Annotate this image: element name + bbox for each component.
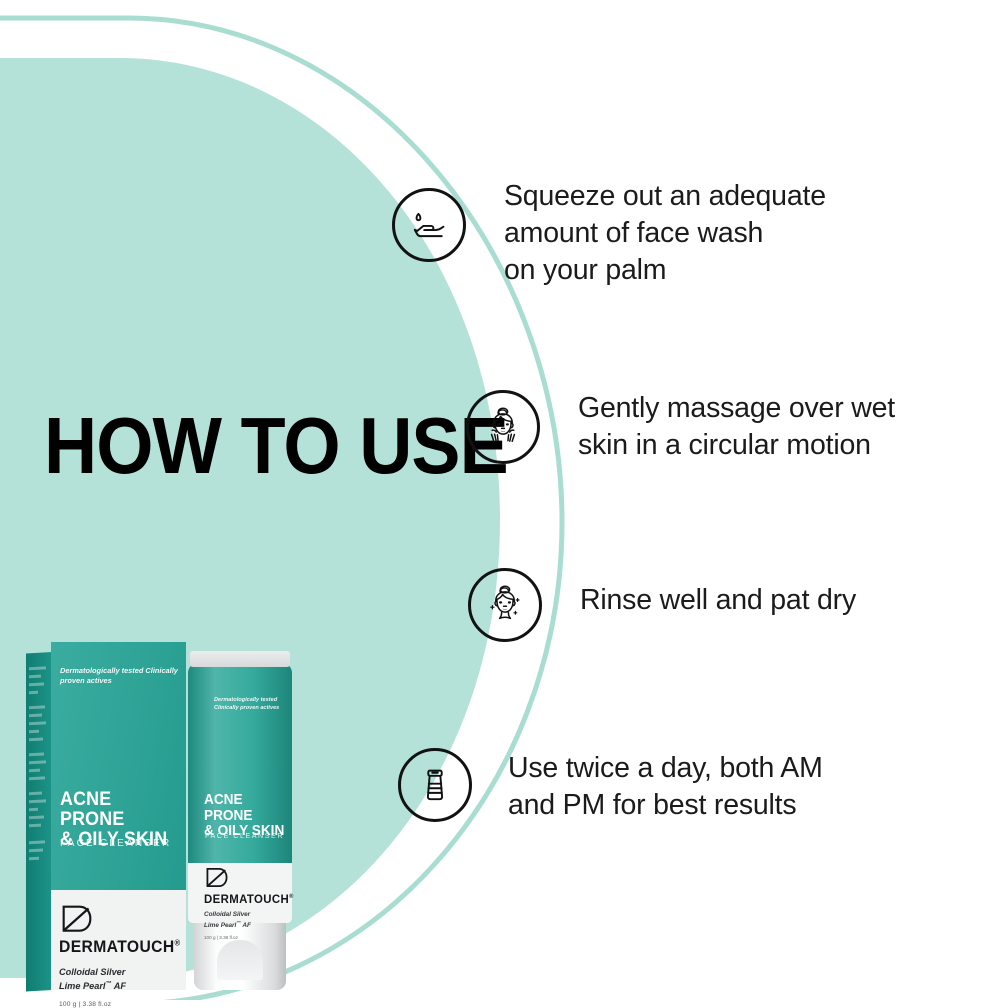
product-carton: Dermatologically tested Clinically prove… — [26, 642, 186, 990]
carton-spine-text-lines — [29, 666, 49, 865]
step-4-text: Use twice a day, both AM and PM for best… — [508, 750, 898, 824]
step-1-text: Squeeze out an adequate amount of face w… — [504, 178, 874, 289]
carton-spine — [26, 652, 52, 991]
carton-size: 100 g | 3.38 fl.oz — [59, 1001, 189, 1008]
tube-brand-block: DERMATOUCH® Colloidal Silver Lime Pearl™… — [204, 867, 290, 940]
carton-variant: Colloidal Silver Lime Pearl™ AF — [59, 967, 189, 992]
carton-brand-name: DERMATOUCH® — [59, 938, 183, 957]
tube-crimp — [190, 651, 290, 667]
face-massage-icon — [466, 390, 540, 464]
face-sparkle-icon — [468, 568, 542, 642]
cleanser-tube-icon — [398, 748, 472, 822]
step-3-text: Rinse well and pat dry — [580, 582, 950, 619]
product-tube: Dermatologically tested Clinically prove… — [182, 645, 300, 990]
carton-subtitle: FACE CLEANSER — [60, 838, 171, 849]
infographic-canvas: HOW TO USE Squeeze out an adequate amoun… — [0, 0, 1000, 1000]
dermatouch-logo-icon — [59, 904, 95, 936]
tube-size: 100 g | 3.38 fl.oz — [204, 935, 290, 940]
carton-brand-block: DERMATOUCH® Colloidal Silver Lime Pearl™… — [59, 904, 189, 1008]
step-2-text: Gently massage over wet skin in a circul… — [578, 390, 958, 464]
tube-brand-name: DERMATOUCH® — [204, 892, 286, 906]
carton-claims: Dermatologically tested Clinically prove… — [60, 666, 180, 686]
tube-variant: Colloidal Silver Lime Pearl™ AF — [204, 911, 290, 930]
dermatouch-logo-icon — [204, 867, 230, 890]
tube-subtitle: FACE CLEANSER — [205, 831, 284, 840]
tube-claims: Dermatologically tested Clinically prove… — [214, 697, 290, 712]
hand-with-drop-icon — [392, 188, 466, 262]
product-imagery: Dermatologically tested Clinically prove… — [0, 600, 340, 1000]
page-title: HOW TO USE — [44, 406, 508, 486]
